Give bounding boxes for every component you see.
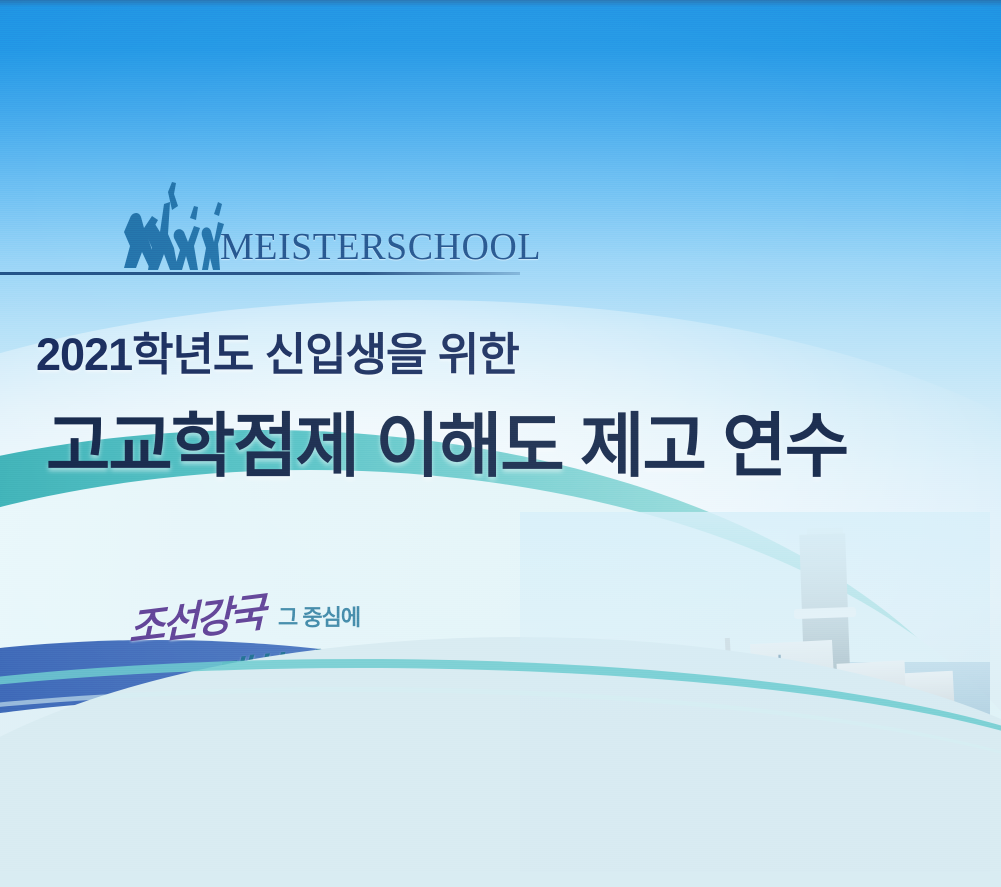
slide-title: 고교학점제 이해도 제고 연수 xyxy=(46,390,847,491)
slide-surface: Drillship ice Stena xyxy=(0,0,1001,872)
presentation-slide-photo: Drillship ice Stena xyxy=(0,0,1001,887)
meisterschool-wordmark: MEISTERSCHOOL xyxy=(220,228,541,266)
slide-top-edge xyxy=(0,0,1001,7)
meisterschool-logo: MEISTERSCHOOL xyxy=(108,176,541,272)
slide-subtitle: 2021학년도 신입생을 위한 xyxy=(36,318,519,383)
header-rule xyxy=(0,272,520,275)
slogan-middle-text: 그 중심에 xyxy=(278,600,360,632)
meisterschool-people-icon xyxy=(108,176,226,272)
